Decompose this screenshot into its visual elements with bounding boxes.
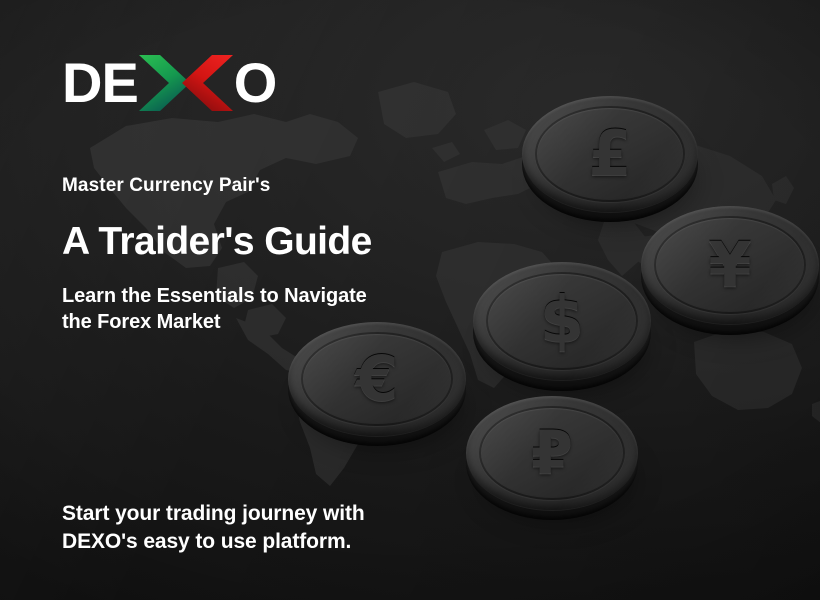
subheadline-text: Learn the Essentials to Navigate the For… [62,283,367,336]
ruble-coin: ₽ [466,396,638,510]
coin-face: £ [522,96,698,212]
logo-text-de: DE [62,55,138,111]
yen-coin: ¥ [641,206,819,324]
x-chevron-icon [138,54,234,112]
ruble-symbol: ₽ [466,396,638,510]
euro-coin: € [288,322,466,436]
coin-face: $ [473,262,651,380]
page-title: A Traider's Guide [62,222,372,263]
dollar-symbol: $ [473,262,651,380]
dollar-coin: $ [473,262,651,380]
coin-face: ¥ [641,206,819,324]
eyebrow-text: Master Currency Pair's [62,175,270,197]
forex-promo-banner: £ ¥ $ € ₽ DE [0,0,820,600]
pound-symbol: £ [522,96,698,212]
yen-symbol: ¥ [641,206,819,324]
call-to-action-text: Start your trading journey with DEXO's e… [62,500,365,556]
logo-text-o: O [234,55,277,111]
euro-symbol: € [288,322,466,436]
dexo-logo[interactable]: DE O [62,52,276,114]
coin-face: ₽ [466,396,638,510]
pound-coin: £ [522,96,698,212]
coin-face: € [288,322,466,436]
